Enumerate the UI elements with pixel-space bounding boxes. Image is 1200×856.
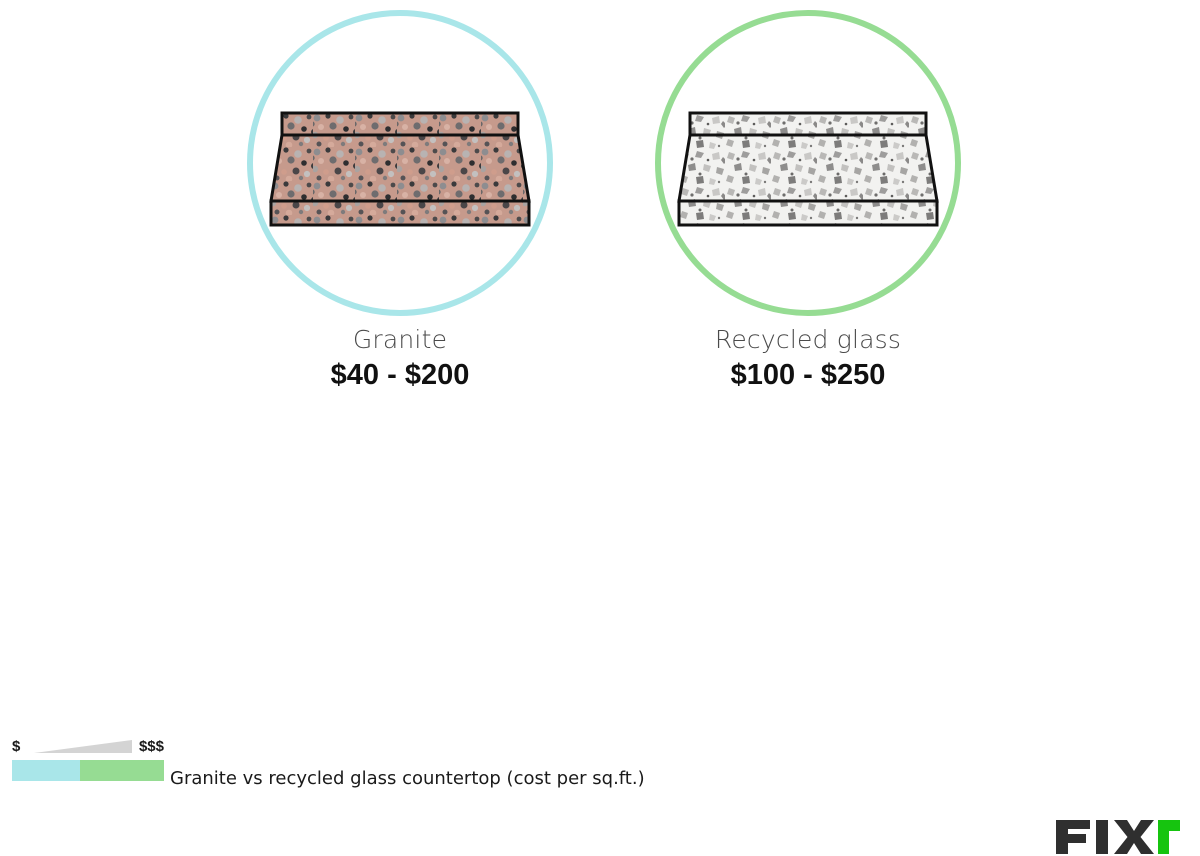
granite-caption: Granite $40 - $200 xyxy=(190,325,610,393)
comparison-item-recycled-glass: Recycled glass $100 - $250 xyxy=(598,0,1018,400)
cost-gradient-wedge-icon xyxy=(34,740,132,754)
cost-low-label: $ xyxy=(12,738,20,756)
material-name: Recycled glass xyxy=(598,325,1018,355)
cost-high-label: $$$ xyxy=(139,738,164,756)
comparison-panels: Granite $40 - $200 xyxy=(0,0,1200,400)
granite-circle xyxy=(247,10,553,316)
cost-legend: $ $$$ xyxy=(12,738,164,758)
chart-caption: Granite vs recycled glass countertop (co… xyxy=(170,768,645,790)
recycled-glass-color-swatch xyxy=(80,760,164,781)
fixr-logo[interactable] xyxy=(1054,818,1182,856)
comparison-item-granite: Granite $40 - $200 xyxy=(190,0,610,400)
recycled-glass-countertop-icon xyxy=(679,113,937,229)
recycled-glass-caption: Recycled glass $100 - $250 xyxy=(598,325,1018,393)
material-name: Granite xyxy=(190,325,610,355)
footer: $ $$$ Granite vs recycled glass countert… xyxy=(0,400,1200,468)
material-price-range: $100 - $250 xyxy=(598,357,1018,393)
granite-countertop-icon xyxy=(271,113,529,229)
material-price-range: $40 - $200 xyxy=(190,357,610,393)
recycled-glass-circle xyxy=(655,10,961,316)
granite-color-swatch xyxy=(12,760,80,781)
legend-color-bars xyxy=(12,760,164,781)
cost-scale: $ $$$ xyxy=(12,738,164,758)
